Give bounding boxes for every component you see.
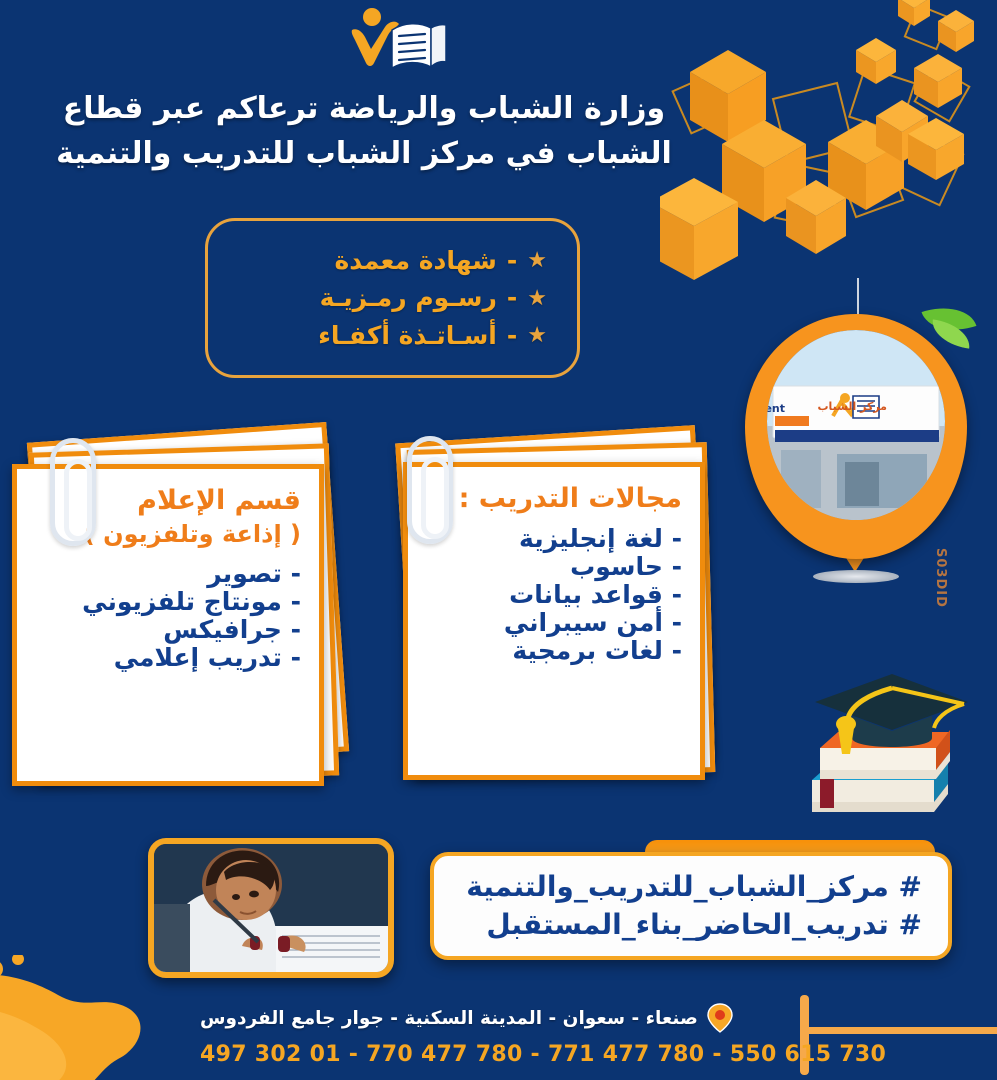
training-item-row: - أمن سيبراني — [426, 609, 682, 637]
feature-item: ★ - شهادة معمدة — [228, 242, 547, 280]
training-item-row: - لغات برمجية — [426, 637, 682, 665]
paperclip-icon — [50, 438, 96, 546]
star-icon: ★ — [527, 282, 547, 315]
dash-glyph: - — [507, 317, 517, 355]
hashtag-line-2: # تدريب_الحاضر_بناء_المستقبل — [460, 906, 922, 944]
footer-address-row: صنعاء - سعوان - المدينة السكنية - جوار ج… — [200, 1003, 785, 1033]
training-item-label: قواعد بيانات — [509, 580, 663, 609]
media-item-label: تدريب إعلامي — [114, 643, 282, 672]
footer-address: صنعاء - سعوان - المدينة السكنية - جوار ج… — [200, 1008, 698, 1029]
media-item-row: - تصوير — [35, 560, 301, 588]
dash-glyph: - — [672, 524, 682, 553]
media-department-card-stack: قسم الإعلام ( إذاعة وتلفزيون ) - تصوير -… — [8, 430, 358, 795]
map-pin-icon — [707, 1003, 733, 1033]
training-item-label: لغة إنجليزية — [519, 524, 663, 553]
dash-glyph: - — [672, 580, 682, 609]
feature-item: ★ - رسـوم رمـزيـة — [228, 279, 547, 317]
dash-glyph: - — [672, 608, 682, 637]
feature-label: شهادة معمدة — [335, 242, 497, 280]
features-box: ★ - شهادة معمدة ★ - رسـوم رمـزيـة ★ - أس… — [205, 218, 580, 378]
dash-glyph: - — [507, 279, 517, 317]
training-item-row: - حاسوب — [426, 553, 682, 581]
dash-glyph: - — [291, 643, 301, 672]
training-card-title: مجالات التدريب : — [426, 481, 682, 517]
svg-text:مركز الشباب: مركز الشباب — [818, 400, 888, 413]
svg-text:Development: Development — [767, 402, 785, 415]
training-fields-card-stack: مجالات التدريب : - لغة إنجليزية - حاسوب … — [385, 430, 725, 790]
dash-glyph: - — [672, 552, 682, 581]
headline-line-1: وزارة الشباب والرياضة ترعاكم عبر قطاع — [14, 86, 714, 131]
orange-blob-decoration — [0, 955, 230, 1080]
graduation-cap-books-icon — [790, 660, 990, 835]
footer-horizontal-rule — [800, 1027, 997, 1034]
dash-glyph: - — [291, 559, 301, 588]
training-item-label: أمن سيبراني — [504, 608, 663, 637]
center-building-photo: Development مركز الشباب — [767, 330, 945, 520]
training-item-label: لغات برمجية — [512, 636, 663, 665]
hashtag-banner: # مركز_الشباب_للتدريب_والتنمية # تدريب_ا… — [430, 852, 952, 960]
media-item-row: - مونتاج تلفزيوني — [35, 588, 301, 616]
dash-glyph: - — [291, 587, 301, 616]
media-item-label: مونتاج تلفزيوني — [82, 587, 282, 616]
feature-item: ★ - أسـاتـذة أكفـاء — [228, 317, 547, 355]
pin-shadow-base — [813, 570, 899, 583]
hashtag-line-1: # مركز_الشباب_للتدريب_والتنمية — [460, 868, 922, 906]
media-item-row: - تدريب إعلامي — [35, 644, 301, 672]
dash-glyph: - — [291, 615, 301, 644]
dash-glyph: - — [672, 636, 682, 665]
poster-canvas: وزارة الشباب والرياضة ترعاكم عبر قطاع ال… — [0, 0, 997, 1080]
training-item-row: - لغة إنجليزية — [426, 525, 682, 553]
training-item-label: حاسوب — [570, 552, 663, 581]
headline-line-2: الشباب في مركز الشباب للتدريب والتنمية — [14, 131, 714, 176]
location-pin-photo: Development مركز الشباب — [735, 278, 980, 590]
designer-credit: S03DID — [933, 548, 948, 608]
dash-glyph: - — [507, 242, 517, 280]
media-item-row: - جرافيكس — [35, 616, 301, 644]
footer-phone-row: 730 615 550 - 780 477 771 - 780 477 770 … — [200, 1040, 785, 1068]
star-icon: ★ — [527, 319, 547, 352]
training-item-row: - قواعد بيانات — [426, 581, 682, 609]
feature-label: أسـاتـذة أكفـاء — [318, 317, 497, 355]
youth-center-book-logo-icon — [336, 4, 454, 76]
media-item-label: جرافيكس — [163, 615, 282, 644]
feature-label: رسـوم رمـزيـة — [320, 279, 497, 317]
footer-phones: 730 615 550 - 780 477 771 - 780 477 770 … — [200, 1042, 886, 1067]
star-icon: ★ — [527, 244, 547, 277]
media-item-label: تصوير — [207, 559, 282, 588]
paperclip-icon — [407, 436, 453, 544]
poster-headline: وزارة الشباب والرياضة ترعاكم عبر قطاع ال… — [14, 86, 714, 176]
